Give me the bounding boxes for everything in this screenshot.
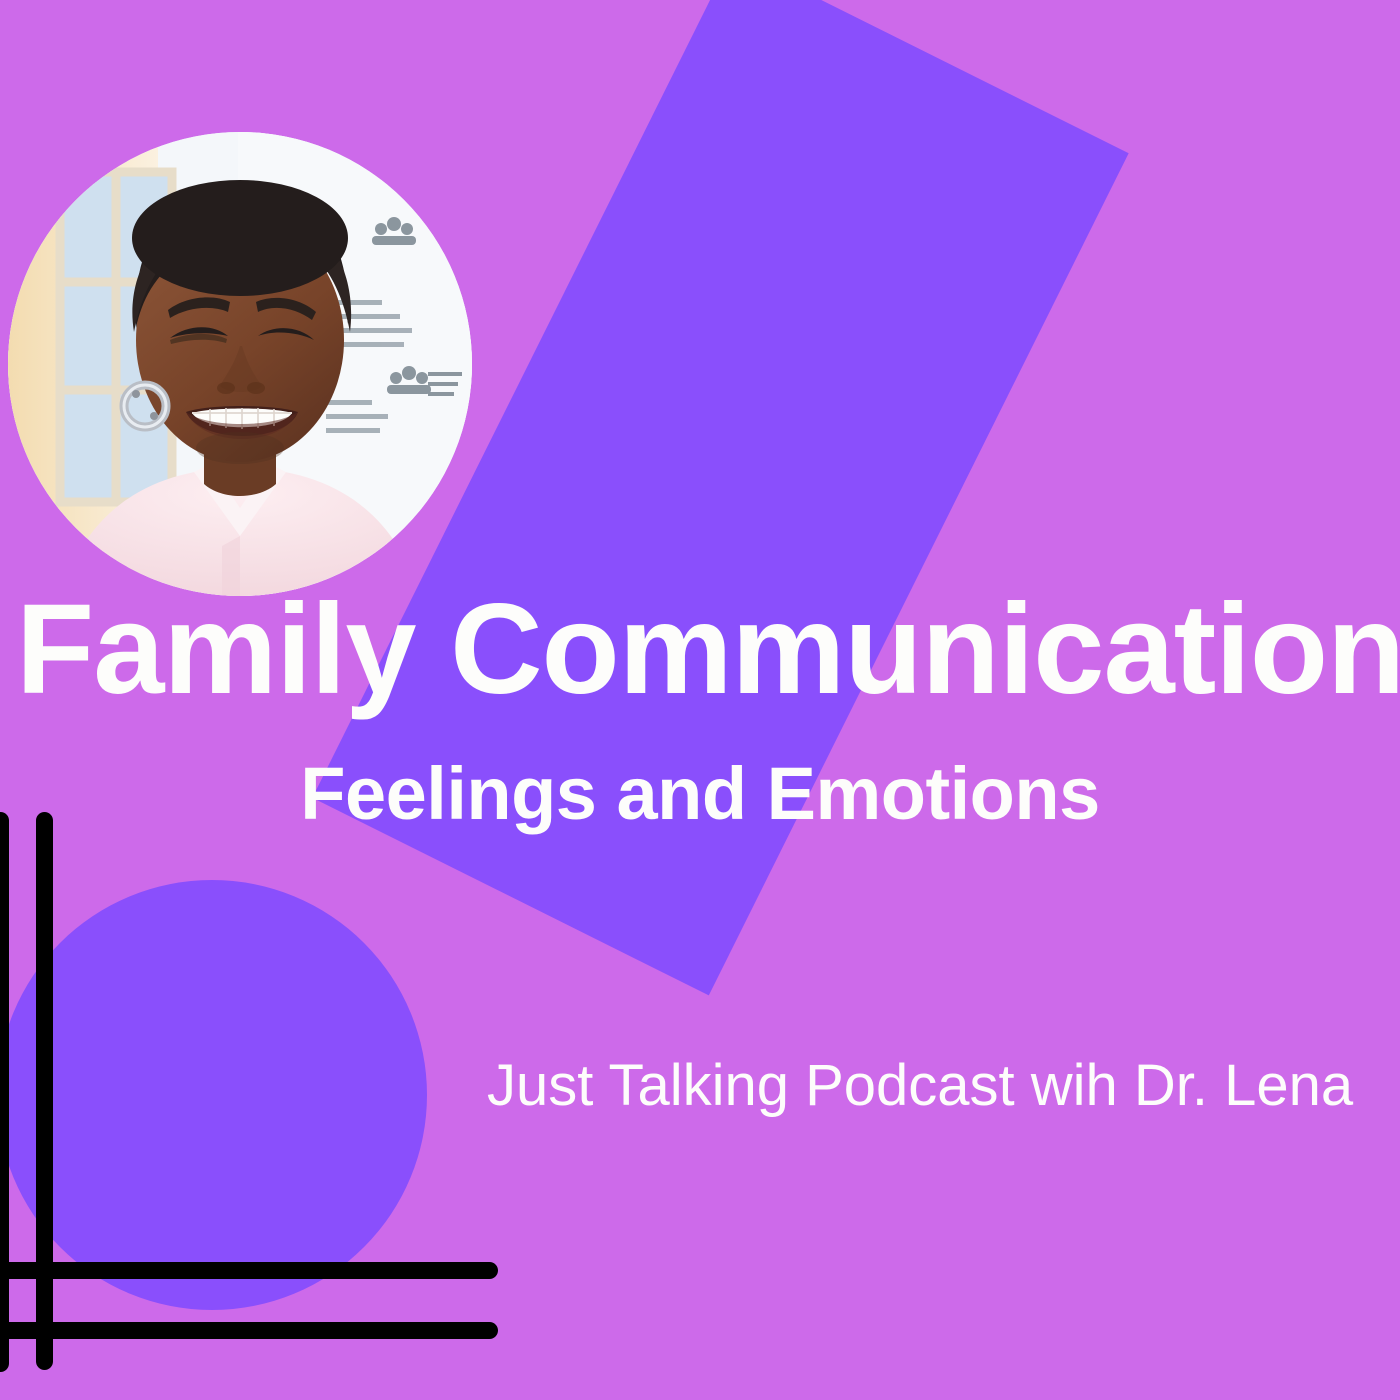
podcast-cover-art: Family Communication Feelings and Emotio… bbox=[0, 0, 1400, 1400]
host-portrait-image bbox=[8, 132, 472, 596]
podcast-byline: Just Talking Podcast wih Dr. Lena bbox=[487, 1057, 1353, 1115]
horizontal-line-top bbox=[0, 1262, 498, 1279]
horizontal-line-bottom bbox=[0, 1322, 498, 1339]
rotated-rectangle-shape bbox=[312, 0, 1128, 995]
episode-subtitle: Feelings and Emotions bbox=[0, 757, 1400, 831]
vertical-line-inner bbox=[36, 812, 53, 1370]
page-title: Family Communication bbox=[16, 586, 1400, 714]
vertical-line-outer bbox=[0, 812, 9, 1372]
host-portrait-avatar bbox=[8, 132, 472, 596]
accent-circle-shape bbox=[0, 880, 427, 1310]
